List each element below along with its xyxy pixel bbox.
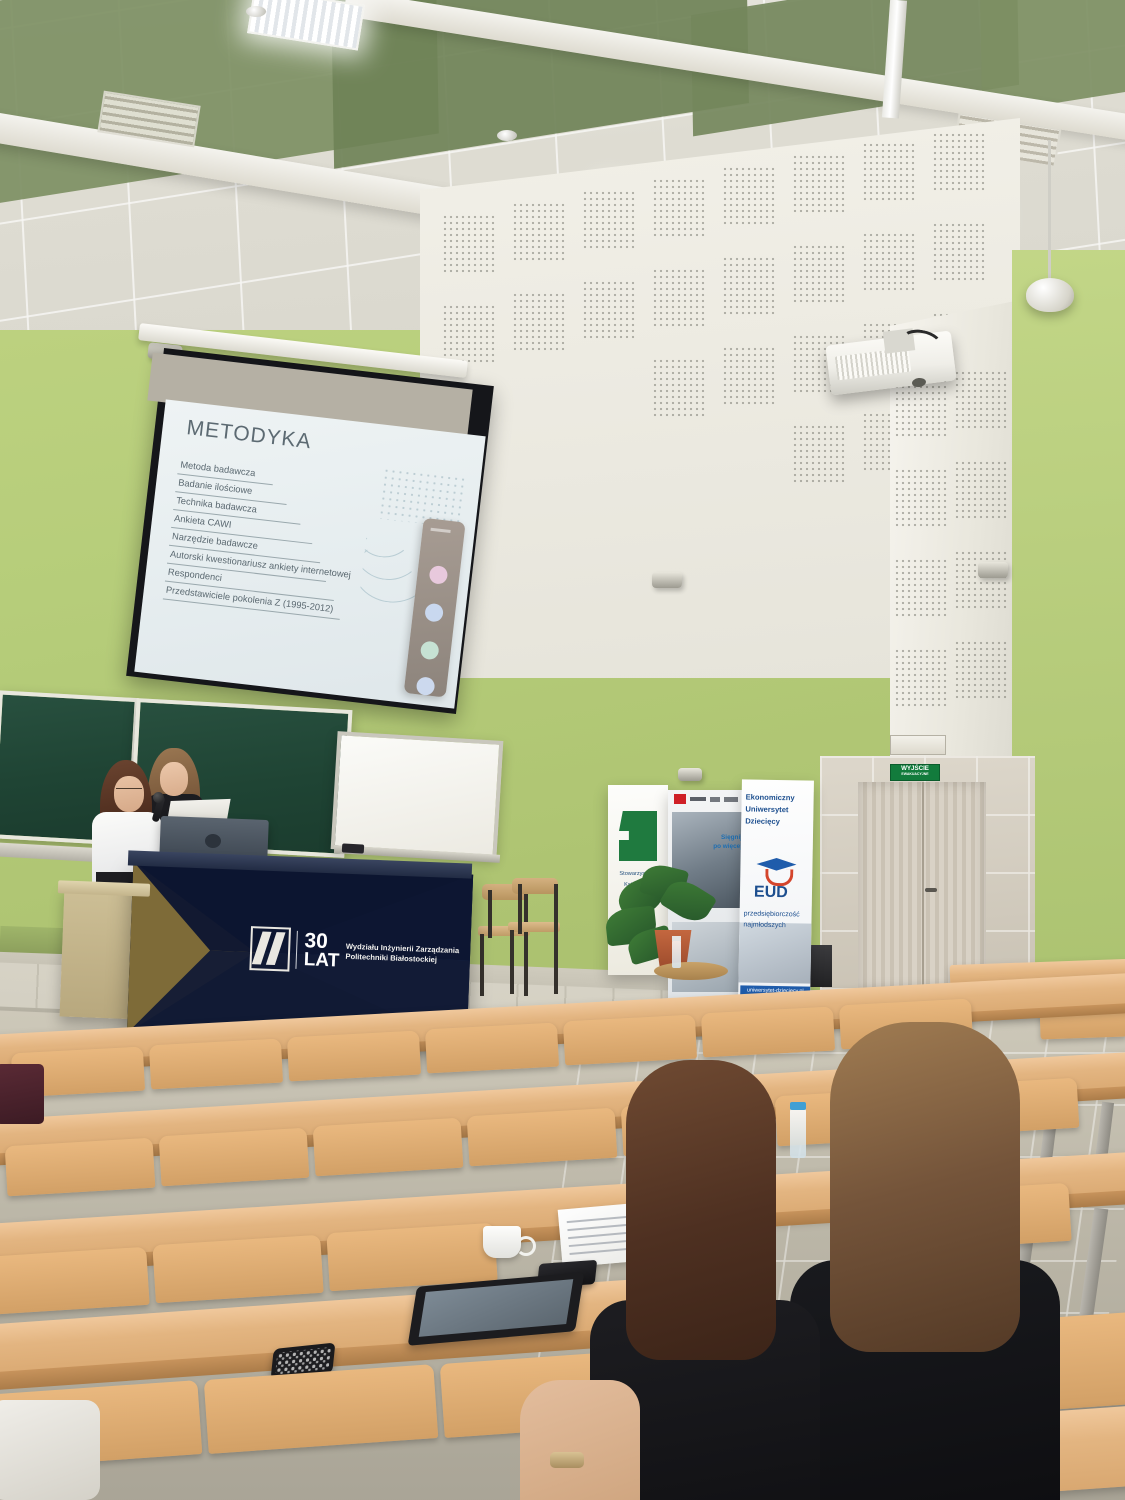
dome-speaker-icon (1026, 278, 1074, 312)
audience-member-left-hair (626, 1060, 776, 1360)
slide-line: Narzędzie badawcze (172, 531, 259, 551)
banner-claim-line: Sięgnij (713, 834, 742, 843)
audience-member-left-arm (520, 1380, 640, 1500)
bench-seatback (313, 1118, 464, 1177)
presentation-slide: METODYKA Metoda badawcza Badanie ilościo… (134, 399, 485, 708)
anniversary-number: 30 LAT (295, 931, 340, 971)
water-bottle-cap (790, 1102, 806, 1110)
presenter-background-face (160, 762, 188, 796)
coffee-cup-handle (516, 1236, 536, 1256)
bench-seatback (159, 1128, 310, 1187)
sponsor-logo-icon (710, 797, 720, 802)
graduation-cap-icon (756, 858, 796, 883)
exit-sign-primary: WYJŚCIE (891, 765, 939, 772)
banner-title-line: Uniwersytet (745, 803, 811, 816)
slide-title: METODYKA (185, 416, 312, 454)
glasses-icon (116, 788, 142, 795)
audience-member-right-hair (830, 1022, 1020, 1352)
anniversary-unit: LAT (303, 951, 339, 970)
banner-eud-acronym: EUD (754, 884, 788, 903)
bench-seatback (152, 1235, 323, 1303)
bench-seatback (5, 1138, 156, 1197)
wall-speaker-icon (678, 768, 702, 781)
white-cloth-item (0, 1400, 100, 1500)
bench-seatback (563, 1015, 697, 1066)
bench-seatback (425, 1023, 559, 1074)
sponsor-logo-icon (690, 797, 706, 801)
banner-eud: Ekonomiczny Uniwersytet Dziecięcy EUD pr… (738, 779, 814, 1005)
whiteboard[interactable] (331, 731, 504, 859)
banner-title-line: Dziecięcy (745, 815, 811, 828)
coffee-cup (483, 1226, 521, 1258)
door-info-plate (890, 735, 946, 755)
wall-speaker-icon (652, 572, 682, 588)
lecture-hall-photo: METODYKA Metoda badawcza Badanie ilościo… (0, 0, 1125, 1500)
sponsor-logo-icon (674, 794, 686, 804)
smoke-detector-icon (497, 130, 517, 141)
round-side-table (654, 962, 728, 980)
podium-faculty-text: Wydziału Inżynierii Zarządzania Politech… (345, 942, 459, 967)
exit-sign-secondary: EWAKUACYJNE (891, 772, 939, 777)
wall-speaker-icon (978, 562, 1008, 578)
bottle-cap (672, 936, 681, 941)
bench-seatback (149, 1039, 283, 1090)
banner-eud-photo (738, 922, 811, 983)
banner-sub-line: najmłodszych (743, 920, 809, 932)
smoke-detector-icon (246, 6, 266, 17)
bench-seatback (467, 1108, 618, 1167)
sponsor-logo-icon (724, 797, 738, 802)
emergency-exit-sign: WYJŚCIE EWAKUACYJNE (890, 764, 940, 781)
whiteboard-eraser[interactable] (342, 843, 364, 853)
bench-seatback (701, 1007, 835, 1058)
accountants-logo-icon (619, 811, 657, 861)
wristwatch (550, 1452, 584, 1468)
door-handle[interactable] (925, 888, 937, 892)
hand-sanitizer-bottle (672, 940, 681, 968)
water-bottle (790, 1108, 806, 1158)
faculty-logo-icon (249, 926, 291, 972)
bench-seatback (0, 1247, 150, 1315)
slide-line: Przedstawiciele pokolenia Z (1995-2012) (165, 585, 334, 614)
banner-claim: Sięgnij po więcej (713, 834, 742, 851)
banner-sub-line: przedsiębiorczość (744, 909, 810, 921)
door-leaf-divider (922, 782, 924, 990)
banner-claim-line: po więcej (713, 843, 742, 852)
bench-seatback (287, 1031, 421, 1082)
banner-eud-subtitle: przedsiębiorczość najmłodszych (743, 909, 809, 931)
banner-eud-title: Ekonomiczny Uniwersytet Dziecięcy (745, 791, 812, 827)
podium-logo-group: 30 LAT Wydziału Inżynierii Zarządzania P… (249, 926, 459, 978)
microphone-head-icon (153, 792, 164, 803)
banner-sponsor-logos (674, 794, 738, 804)
banner-title-line: Ekonomiczny (746, 791, 812, 804)
handbag (0, 1064, 44, 1124)
speaker-suspension-wire (1048, 140, 1051, 285)
slide-line: Respondenci (167, 567, 222, 583)
